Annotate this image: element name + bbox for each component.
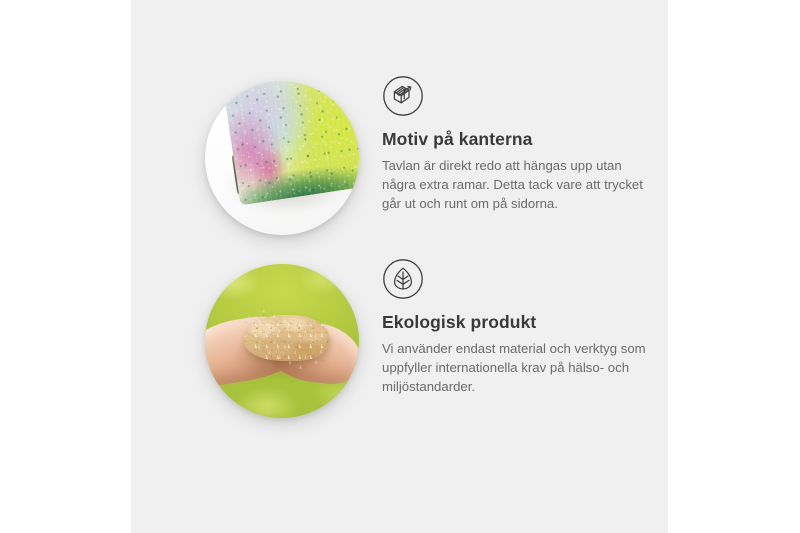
canvas-print-edge-photo-wrapper (205, 81, 359, 235)
feature-block-edges: Motiv på kanterna Tavlan är direkt redo … (131, 75, 668, 255)
leaf-icon (382, 258, 424, 300)
canvas-wrapped-edge-icon (382, 75, 424, 117)
eco-photo-background (205, 264, 359, 418)
content-panel: Motiv på kanterna Tavlan är direkt redo … (131, 0, 668, 533)
feature-body-edges: Tavlan är direkt redo att hängas upp uta… (382, 156, 650, 213)
feature-title-eco: Ekologisk produkt (382, 312, 662, 333)
wood-chips (244, 315, 330, 361)
canvas-front-face (223, 81, 359, 206)
canvas-photo-background (205, 81, 359, 235)
feature-info-edges: Motiv på kanterna Tavlan är direkt redo … (382, 75, 662, 213)
feature-info-eco: Ekologisk produkt Vi använder endast mat… (382, 258, 662, 396)
hands-holding-wood-chips-photo (205, 264, 359, 418)
canvas-print-edge-photo (205, 81, 359, 235)
feature-body-eco: Vi använder endast material och verktyg … (382, 339, 650, 396)
product-feature-banner: Motiv på kanterna Tavlan är direkt redo … (0, 0, 800, 533)
feature-title-edges: Motiv på kanterna (382, 129, 662, 150)
hands-holding-wood-chips-photo-wrapper (205, 264, 359, 418)
feature-block-eco: Ekologisk produkt Vi använder endast mat… (131, 258, 668, 438)
